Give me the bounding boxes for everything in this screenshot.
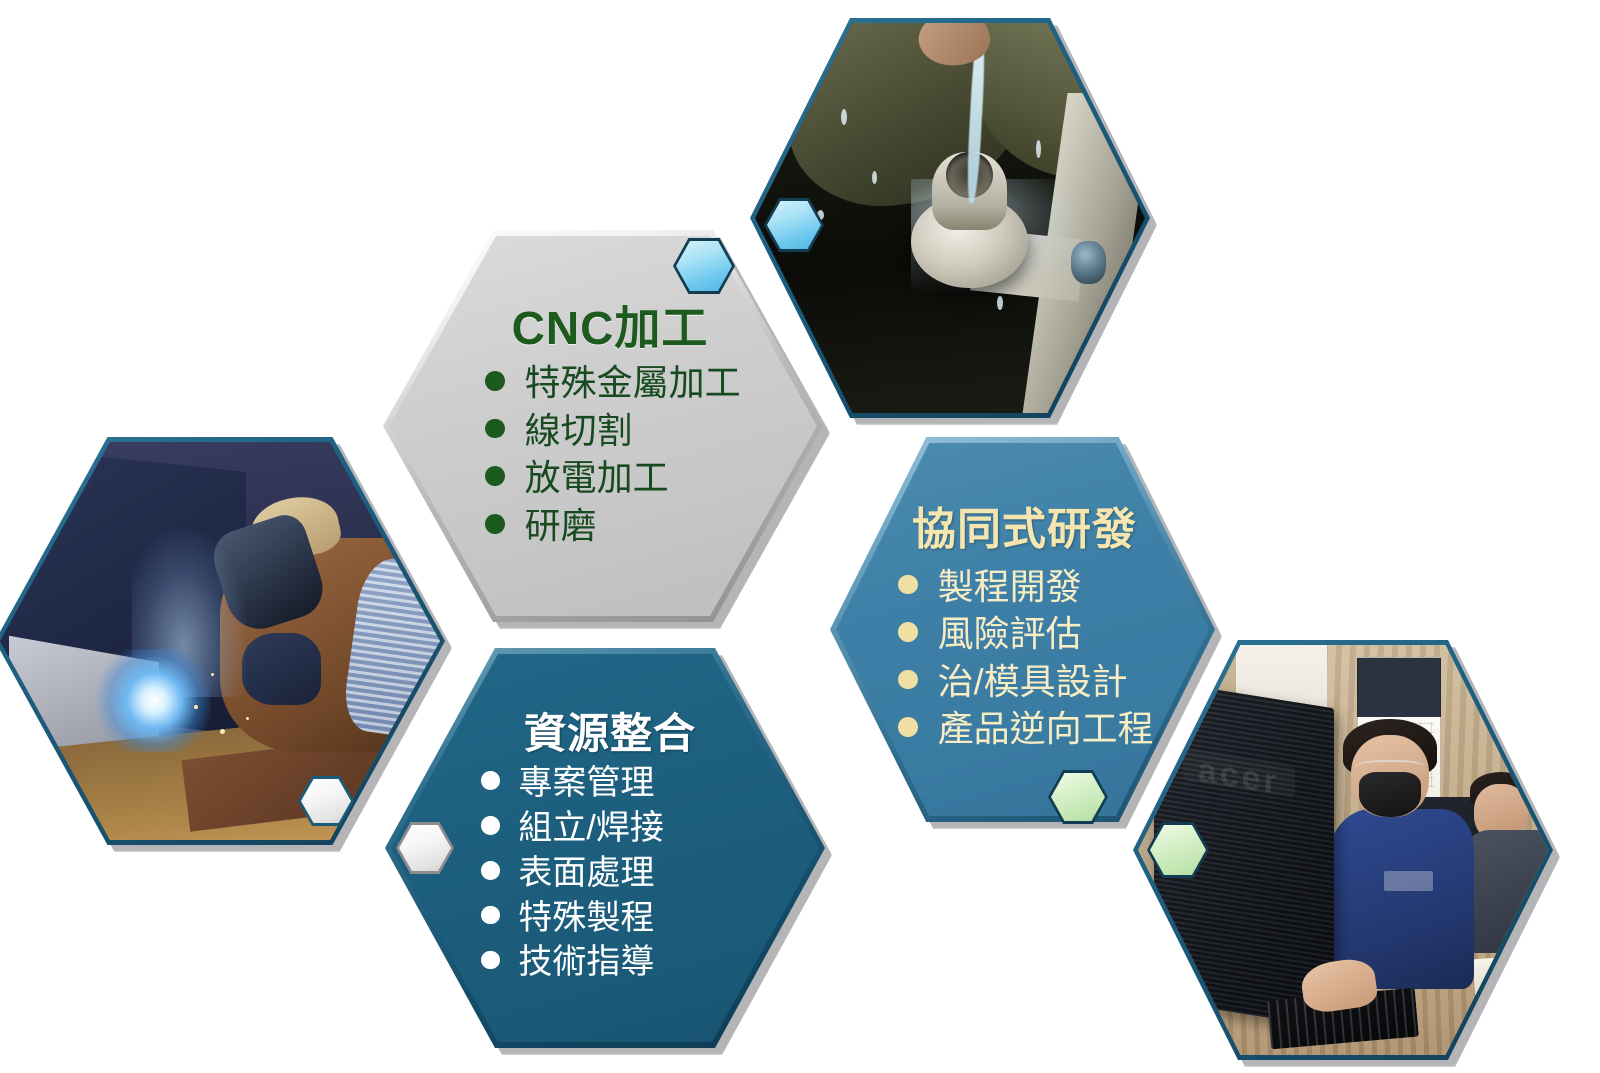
card-hexagon-resource-integration[interactable]: 資源整合 專案管理 組立/焊接 表面處理 特殊製程 技術指導 <box>385 648 825 1048</box>
juhang-polo-logo <box>1384 871 1433 892</box>
badge-inner <box>301 779 351 823</box>
hexagon-diagram-canvas: acer 資源整合 專案管理 組立/焊接 表面處理 特殊製程 技術指導 <box>0 0 1600 1073</box>
photo-hexagon-welding[interactable] <box>0 437 445 845</box>
engineer-face-mask <box>1359 772 1421 817</box>
welder-glove <box>242 633 321 705</box>
water-drop <box>1036 140 1041 158</box>
water-drop <box>841 109 847 125</box>
machine-knob <box>1071 241 1106 284</box>
badge-inner <box>676 241 732 291</box>
water-drop <box>997 296 1003 310</box>
card-hexagon-cnc-machining[interactable]: CNC加工 特殊金屬加工 線切割 放電加工 研磨 <box>383 230 823 622</box>
card-hexagon-collaborative-rd[interactable]: 協同式研發 製程開發 風險評估 治/模具設計 產品逆向工程 <box>830 437 1215 822</box>
welding-arc <box>97 649 211 752</box>
weld-spark <box>194 705 198 709</box>
badge-inner <box>399 825 451 871</box>
badge-inner <box>1051 773 1105 821</box>
badge-inner <box>1150 825 1206 875</box>
weld-spark <box>220 729 225 734</box>
